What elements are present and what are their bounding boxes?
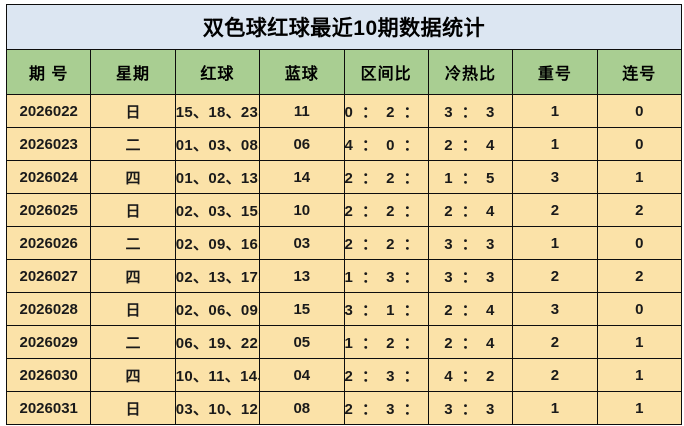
cell-repeat-count: 2 [513,326,597,359]
cell-red-balls: 02、09、16、22、25、29 [175,227,259,260]
cell-consecutive-count: 2 [597,194,681,227]
cell-repeat-count: 2 [513,260,597,293]
table-row[interactable]: 2026026 二 02、09、16、22、25、29 03 2 ： 2 ： 2… [7,227,682,260]
cell-zone-ratio: 4 ： 0 ： 2 [344,128,428,161]
column-header-zone-ratio[interactable]: 区间比 [344,50,428,95]
table-row[interactable]: 2026024 四 01、02、13、21、23、29 14 2 ： 2 ： 2… [7,161,682,194]
cell-zone-ratio: 1 ： 3 ： 2 [344,260,428,293]
cell-zone-ratio: 0 ： 2 ： 4 [344,95,428,128]
cell-issue: 2026029 [7,326,91,359]
table-row[interactable]: 2026025 日 02、03、15、20、23、24 10 2 ： 2 ： 2… [7,194,682,227]
cell-consecutive-count: 1 [597,359,681,392]
cell-repeat-count: 1 [513,227,597,260]
cell-blue-ball: 05 [260,326,344,359]
cell-consecutive-count: 1 [597,392,681,425]
cell-hotcold-ratio: 2 ： 4 [428,293,512,326]
cell-issue: 2026031 [7,392,91,425]
cell-issue: 2026028 [7,293,91,326]
cell-blue-ball: 11 [260,95,344,128]
column-header-weekday[interactable]: 星期 [91,50,175,95]
cell-zone-ratio: 2 ： 3 ： 1 [344,359,428,392]
cell-issue: 2026027 [7,260,91,293]
cell-red-balls: 02、03、15、20、23、24 [175,194,259,227]
cell-weekday: 二 [91,128,175,161]
cell-consecutive-count: 0 [597,293,681,326]
cell-red-balls: 06、19、22、23、28、31 [175,326,259,359]
cell-blue-ball: 15 [260,293,344,326]
table-body: 双色球红球最近10期数据统计 期 号 星期 红球 蓝球 区间比 冷热比 重号 连… [7,5,682,425]
table-row[interactable]: 2026022 日 15、18、23、25、28、32 11 0 ： 2 ： 4… [7,95,682,128]
cell-red-balls: 10、11、14、19、22、24 [175,359,259,392]
table-row[interactable]: 2026023 二 01、03、08、10、23、29 06 4 ： 0 ： 2… [7,128,682,161]
cell-consecutive-count: 1 [597,161,681,194]
cell-red-balls: 02、06、09、17、25、28 [175,293,259,326]
cell-blue-ball: 13 [260,260,344,293]
cell-issue: 2026023 [7,128,91,161]
cell-hotcold-ratio: 2 ： 4 [428,326,512,359]
cell-zone-ratio: 3 ： 1 ： 2 [344,293,428,326]
cell-issue: 2026022 [7,95,91,128]
cell-issue: 2026025 [7,194,91,227]
cell-zone-ratio: 2 ： 2 ： 2 [344,161,428,194]
cell-blue-ball: 10 [260,194,344,227]
cell-weekday: 日 [91,194,175,227]
table-row[interactable]: 2026029 二 06、19、22、23、28、31 05 1 ： 2 ： 3… [7,326,682,359]
cell-repeat-count: 1 [513,95,597,128]
column-header-repeat-count[interactable]: 重号 [513,50,597,95]
cell-consecutive-count: 2 [597,260,681,293]
cell-weekday: 二 [91,227,175,260]
cell-red-balls: 02、13、17、18、25、26 [175,260,259,293]
column-header-blue-ball[interactable]: 蓝球 [260,50,344,95]
cell-weekday: 日 [91,95,175,128]
cell-weekday: 日 [91,392,175,425]
cell-blue-ball: 14 [260,161,344,194]
column-header-red-ball[interactable]: 红球 [175,50,259,95]
cell-consecutive-count: 0 [597,128,681,161]
cell-consecutive-count: 0 [597,227,681,260]
cell-repeat-count: 1 [513,392,597,425]
table-row[interactable]: 2026027 四 02、13、17、18、25、26 13 1 ： 3 ： 2… [7,260,682,293]
cell-issue: 2026030 [7,359,91,392]
cell-issue: 2026026 [7,227,91,260]
cell-weekday: 二 [91,326,175,359]
cell-weekday: 四 [91,161,175,194]
cell-blue-ball: 06 [260,128,344,161]
column-header-consecutive-count[interactable]: 连号 [597,50,681,95]
cell-blue-ball: 03 [260,227,344,260]
cell-repeat-count: 2 [513,359,597,392]
cell-red-balls: 15、18、23、25、28、32 [175,95,259,128]
cell-red-balls: 01、03、08、10、23、29 [175,128,259,161]
cell-hotcold-ratio: 3 ： 3 [428,392,512,425]
cell-hotcold-ratio: 3 ： 3 [428,95,512,128]
cell-issue: 2026024 [7,161,91,194]
cell-repeat-count: 2 [513,194,597,227]
cell-zone-ratio: 1 ： 2 ： 3 [344,326,428,359]
cell-hotcold-ratio: 2 ： 4 [428,194,512,227]
cell-zone-ratio: 2 ： 3 ： 1 [344,392,428,425]
spreadsheet-sheet: 双色球红球最近10期数据统计 期 号 星期 红球 蓝球 区间比 冷热比 重号 连… [0,0,684,426]
cell-weekday: 日 [91,293,175,326]
table-row[interactable]: 2026031 日 03、10、12、13、18、33 08 2 ： 3 ： 1… [7,392,682,425]
cell-zone-ratio: 2 ： 2 ： 2 [344,227,428,260]
cell-repeat-count: 1 [513,128,597,161]
table-row[interactable]: 2026030 四 10、11、14、19、22、24 04 2 ： 3 ： 1… [7,359,682,392]
table-row[interactable]: 2026028 日 02、06、09、17、25、28 15 3 ： 1 ： 2… [7,293,682,326]
cell-blue-ball: 08 [260,392,344,425]
column-header-issue[interactable]: 期 号 [7,50,91,95]
cell-weekday: 四 [91,359,175,392]
cell-repeat-count: 3 [513,293,597,326]
cell-zone-ratio: 2 ： 2 ： 2 [344,194,428,227]
page-title: 双色球红球最近10期数据统计 [7,5,682,50]
cell-blue-ball: 04 [260,359,344,392]
cell-red-balls: 03、10、12、13、18、33 [175,392,259,425]
table-title-row: 双色球红球最近10期数据统计 [7,5,682,50]
lottery-statistics-table: 双色球红球最近10期数据统计 期 号 星期 红球 蓝球 区间比 冷热比 重号 连… [6,4,682,425]
cell-hotcold-ratio: 3 ： 3 [428,227,512,260]
cell-hotcold-ratio: 2 ： 4 [428,128,512,161]
cell-hotcold-ratio: 3 ： 3 [428,260,512,293]
cell-repeat-count: 3 [513,161,597,194]
cell-consecutive-count: 1 [597,326,681,359]
cell-consecutive-count: 0 [597,95,681,128]
table-header-row: 期 号 星期 红球 蓝球 区间比 冷热比 重号 连号 [7,50,682,95]
cell-hotcold-ratio: 1 ： 5 [428,161,512,194]
column-header-hotcold-ratio[interactable]: 冷热比 [428,50,512,95]
cell-red-balls: 01、02、13、21、23、29 [175,161,259,194]
cell-weekday: 四 [91,260,175,293]
cell-hotcold-ratio: 4 ： 2 [428,359,512,392]
